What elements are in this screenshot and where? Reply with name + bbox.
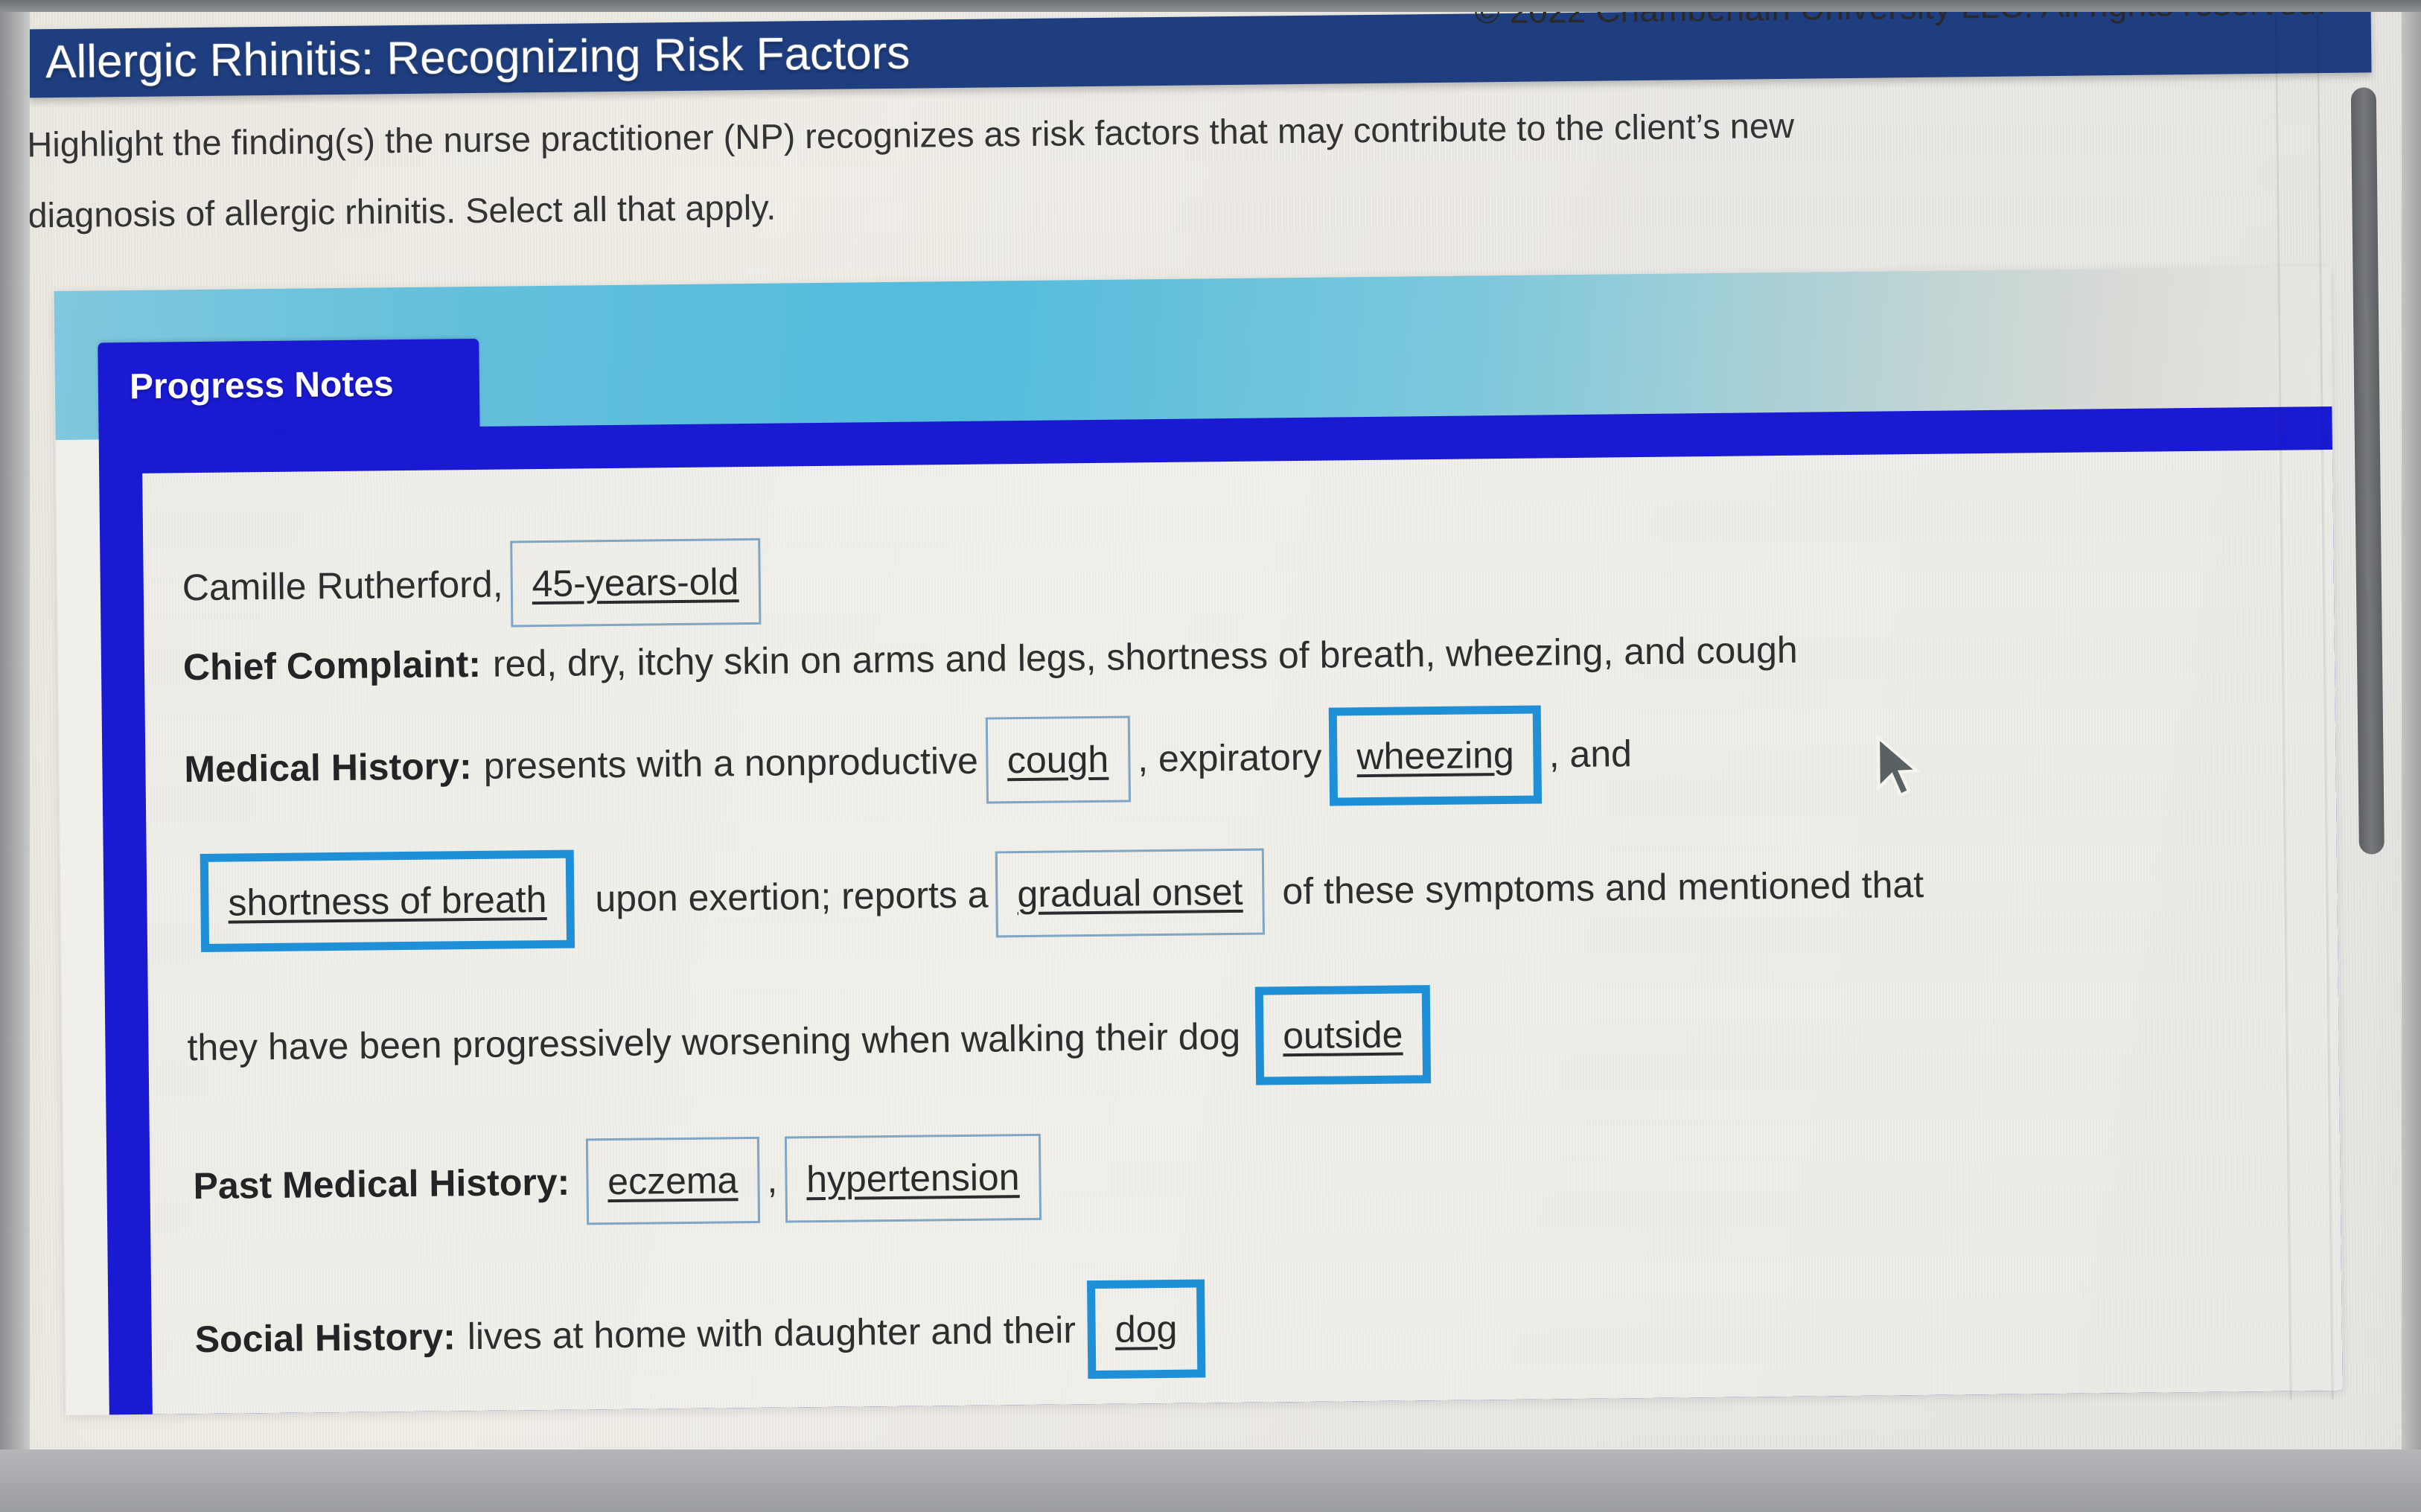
note-line-medical-history-3: they have been progressively worsening w… — [187, 985, 1438, 1097]
token-eczema[interactable]: eczema — [586, 1137, 760, 1225]
medical-history-seg-3: , and — [1548, 735, 1632, 773]
medical-history-seg-4: upon exertion; reports a — [595, 876, 989, 918]
tab-progress-notes[interactable]: Progress Notes — [98, 339, 479, 434]
screenshot-photo: © 2022 Chamberlain University LLC. All r… — [0, 0, 2421, 1512]
medical-history-label: Medical History: — [184, 747, 472, 788]
note-line-chief-complaint: Chief Complaint: red, dry, itchy skin on… — [183, 631, 1798, 686]
token-cough[interactable]: cough — [985, 715, 1130, 803]
token-wheezing[interactable]: wheezing — [1329, 706, 1543, 806]
instructions-line-1: Highlight the finding(s) the nurse pract… — [27, 106, 1794, 165]
note-frame: Camille Rutherford, 45-years-old Chief C… — [99, 406, 2343, 1414]
past-medical-history-label: Past Medical History: — [193, 1164, 570, 1205]
progress-notes-card: Progress Notes Camille Rutherford, 45-ye… — [54, 267, 2343, 1415]
token-shortness-of-breath[interactable]: shortness of breath — [200, 850, 575, 952]
note-line-patient: Camille Rutherford, 45-years-old — [182, 538, 768, 631]
instructions-block: Highlight the finding(s) the nurse pract… — [27, 102, 2246, 234]
instructions-line-2: diagnosis of allergic rhinitis. Select a… — [28, 173, 2246, 235]
page-title: Allergic Rhinitis: Recognizing Risk Fact… — [45, 27, 910, 89]
patient-name: Camille Rutherford, — [182, 566, 503, 607]
screen-surface: © 2022 Chamberlain University LLC. All r… — [0, 0, 2421, 1512]
chief-complaint-label: Chief Complaint: — [183, 645, 482, 686]
token-hypertension[interactable]: hypertension — [785, 1134, 1042, 1223]
photo-bezel-bottom — [0, 1449, 2421, 1512]
past-medical-history-separator: , — [767, 1161, 777, 1199]
note-line-medical-history-2: shortness of breath upon exertion; repor… — [193, 835, 1924, 952]
medical-history-seg-6: they have been progressively worsening w… — [187, 1018, 1240, 1066]
medical-history-seg-5: of these symptoms and mentioned that — [1282, 866, 1924, 910]
note-body: Camille Rutherford, 45-years-old Chief C… — [142, 450, 2343, 1414]
photo-bezel-right — [2402, 0, 2421, 1512]
mouse-cursor-icon — [1874, 734, 1927, 806]
token-gradual-onset[interactable]: gradual onset — [995, 849, 1265, 938]
token-outside[interactable]: outside — [1254, 985, 1431, 1085]
medical-history-seg-2: , expiratory — [1138, 739, 1322, 778]
token-45-years-old[interactable]: 45-years-old — [510, 538, 761, 628]
tab-progress-notes-label: Progress Notes — [130, 364, 394, 408]
social-history-text: lives at home with daughter and their — [468, 1311, 1076, 1355]
token-dog[interactable]: dog — [1087, 1279, 1205, 1379]
note-line-past-medical-history: Past Medical History: eczema , hypertens… — [193, 1134, 1049, 1229]
photo-bezel-left — [0, 0, 30, 1512]
medical-history-seg-1: presents with a nonproductive — [483, 742, 978, 785]
social-history-label: Social History: — [194, 1318, 456, 1358]
note-line-social-history: Social History: lives at home with daugh… — [194, 1279, 1213, 1388]
note-line-medical-history-1: Medical History: presents with a nonprod… — [184, 704, 1633, 818]
photo-bezel-top — [0, 0, 2421, 12]
chief-complaint-text: red, dry, itchy skin on arms and legs, s… — [493, 631, 1798, 683]
